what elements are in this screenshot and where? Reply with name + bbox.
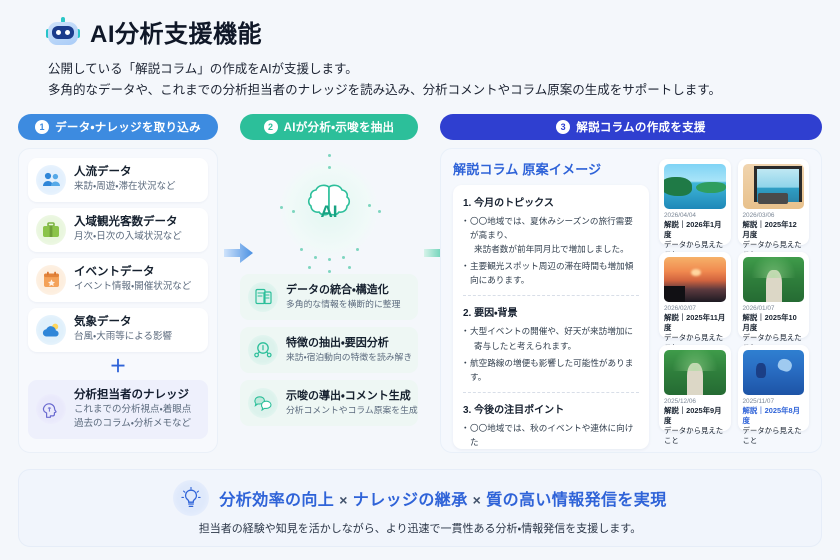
draft-body[interactable]: 1. 今月のトピックス 〇〇地域では、夏休みシーズンの旅行需要が高まり、 来訪者… <box>453 185 649 449</box>
gallery-card[interactable]: 2026/02/07 解説｜2025年11月度 データから見えたこと <box>659 252 731 338</box>
draft-section-heading: 3. 今後の注目ポイント <box>463 401 639 416</box>
ai-card-structure[interactable]: データの統合・構造化 多角的な情報を横断的に整理 <box>240 274 418 320</box>
svg-text:AI: AI <box>321 202 338 221</box>
bullet-line-2: 寄与したと考えられます。 <box>470 339 639 353</box>
sea-island-photo <box>664 164 726 209</box>
ai-card-title: 特徴の抽出・要因分析 <box>286 336 410 351</box>
knowledge-card[interactable]: 分析担当者のナレッジ これまでの分析視点・着眼点 過去のコラム・分析メモなど <box>28 380 208 439</box>
plus-sign: ＋ <box>28 358 208 375</box>
step-3-number: 3 <box>556 120 570 134</box>
ai-card-suggestion[interactable]: 示唆の導出・コメント生成 分析コメントやコラム原案を生成 <box>240 380 418 426</box>
outcome-headline-row: 分析効率の向上×ナレッジの継承×質の高い情報発信を実現 <box>173 480 666 516</box>
gallery-date: 2026/02/07 <box>664 305 726 313</box>
gallery-title: 解説｜2025年12月度 <box>743 220 805 240</box>
gallery-title: 解説｜2025年11月度 <box>664 313 726 333</box>
outcome-x-1: × <box>339 492 348 508</box>
ai-card-sub: 多角的な情報を横断的に整理 <box>286 298 400 311</box>
data-card-sub: 月次・日次の入域状況など <box>74 230 182 244</box>
data-card-weather[interactable]: 気象データ 台風・大雨等による影響 <box>28 308 208 352</box>
data-card-event[interactable]: イベントデータ イベント情報・開催状況など <box>28 258 208 302</box>
step-1-column: 1 データ・ナレッジを取り込み 人流データ 来訪・周遊・滞在状況など <box>18 114 218 459</box>
data-card-title: 気象データ <box>74 315 172 331</box>
gallery-card[interactable]: 2026/01/07 解説｜2025年10月度 データから見えたこと <box>738 252 810 338</box>
column-gallery: 2026/04/04 解説｜2026年1月度 データから見えたこと 2026/0… <box>659 159 809 442</box>
page-lead: 公開している「解説コラム」の作成をAIが支援します。 多角的なデータや、これまで… <box>48 59 822 102</box>
calendar-icon <box>36 265 66 295</box>
draft-bullet: 〇〇地域では、秋のイベントや連休に向けた 動向に注目が必要です。 <box>463 421 639 448</box>
data-card-title: 人流データ <box>74 165 175 181</box>
draft-bullet: 〇〇地域では、夏休みシーズンの旅行需要が高まり、 来訪者数が前年同月比で増加しま… <box>463 214 639 257</box>
step-3-label: 解説コラムの作成を支援 <box>576 119 705 135</box>
gallery-title: 解説｜2026年1月度 <box>664 220 726 240</box>
draft-bullet: 航空路線の増便も影響した可能性があります。 <box>463 356 639 384</box>
step-1-panel: 人流データ 来訪・周遊・滞在状況など 入域観光客数データ 月次・日次の入域状況な… <box>18 148 218 453</box>
gallery-subtitle: データから見えたこと <box>664 426 726 446</box>
lightbulb-icon <box>173 480 209 516</box>
draft-divider <box>463 392 639 393</box>
step-3-column: 3 解説コラムの作成を支援 解説コラム 原案イメージ 1. 今月のトピックス 〇… <box>440 114 822 459</box>
page-header: AI分析支援機能 <box>46 14 822 49</box>
step-1-label: データ・ナレッジを取り込み <box>55 119 201 135</box>
page-title: AI分析支援機能 <box>90 14 262 49</box>
lead-line-1: 公開している「解説コラム」の作成をAIが支援します。 <box>48 59 822 80</box>
green-road-photo <box>743 257 805 302</box>
chat-icon <box>248 388 278 418</box>
outcome-part-2: ナレッジの継承 <box>353 492 468 509</box>
data-card-tourists[interactable]: 入域観光客数データ 月次・日次の入域状況など <box>28 208 208 252</box>
data-card-sub: 台風・大雨等による影響 <box>74 330 172 344</box>
bullet-line-1: 航空路線の増便も影響した可能性があります。 <box>470 358 633 382</box>
ai-card-title: データの統合・構造化 <box>286 283 400 298</box>
draft-bullet: 主要観光スポット周辺の滞在時間も増加傾向にあります。 <box>463 259 639 287</box>
gallery-card[interactable]: 2025/11/07 解説｜2025年8月度 データから見えたこと <box>738 345 810 431</box>
data-card-sub: イベント情報・開催状況など <box>74 280 191 294</box>
ai-card-sub: 分析コメントやコラム原案を生成 <box>286 404 410 417</box>
step-2-number: 2 <box>264 120 278 134</box>
outcome-part-3: 質の高い情報発信を実現 <box>486 492 666 509</box>
draft-section-heading: 1. 今月のトピックス <box>463 194 639 209</box>
gallery-date: 2026/01/07 <box>743 305 805 313</box>
gallery-card[interactable]: 2026/03/06 解説｜2025年12月度 データから見えたこと <box>738 159 810 245</box>
robot-icon <box>46 17 80 47</box>
sunset-sea-photo <box>664 257 726 302</box>
data-card-title: イベントデータ <box>74 265 191 281</box>
outcome-footer: 分析効率の向上×ナレッジの継承×質の高い情報発信を実現 担当者の経験や知見を活か… <box>18 469 822 547</box>
gallery-date: 2025/12/06 <box>664 398 726 406</box>
ai-card-features[interactable]: 特徴の抽出・要因分析 来訪・宿泊動向の特徴を読み解き <box>240 327 418 373</box>
gallery-title: 解説｜2025年10月度 <box>743 313 805 333</box>
magnifier-icon <box>248 335 278 365</box>
knowledge-title: 分析担当者のナレッジ <box>74 388 191 404</box>
flow-band: 1 データ・ナレッジを取り込み 人流データ 来訪・周遊・滞在状況など <box>18 114 822 459</box>
structure-icon <box>248 282 278 312</box>
data-card-sub: 来訪・周遊・滞在状況など <box>74 180 175 194</box>
gallery-title[interactable]: 解説｜2025年8月度 <box>743 406 805 426</box>
gallery-subtitle: データから見えたこと <box>743 426 805 446</box>
draft-section-heading: 2. 要因・背景 <box>463 304 639 319</box>
knowledge-sub-2: 過去のコラム・分析メモなど <box>74 417 191 431</box>
bullet-line-1: 主要観光スポット周辺の滞在時間も増加傾向にあります。 <box>470 261 633 285</box>
draft-divider <box>463 295 639 296</box>
swimming-photo <box>743 350 805 395</box>
outcome-x-2: × <box>473 492 482 508</box>
outcome-part-1: 分析効率の向上 <box>219 492 334 509</box>
outcome-headline: 分析効率の向上×ナレッジの継承×質の高い情報発信を実現 <box>219 486 666 510</box>
step-2-label: AIが分析・示唆を抽出 <box>284 119 395 135</box>
step-1-number: 1 <box>35 120 49 134</box>
gallery-card[interactable]: 2026/04/04 解説｜2026年1月度 データから見えたこと <box>659 159 731 245</box>
ai-card-title: 示唆の導出・コメント生成 <box>286 389 410 404</box>
ai-brain-visual: AI <box>240 144 418 274</box>
ai-card-sub: 来訪・宿泊動向の特徴を読み解き <box>286 351 410 364</box>
bullet-line-2: 来訪者数が前年同月比で増加しました。 <box>470 242 639 256</box>
suitcase-icon <box>36 215 66 245</box>
draft-bullet: 大型イベントの開催や、好天が来訪増加に 寄与したと考えられます。 <box>463 324 639 352</box>
data-card-title: 入域観光客数データ <box>74 215 182 231</box>
head-brain-icon <box>36 394 66 424</box>
brain-icon: AI <box>298 181 360 237</box>
bullet-line-1: 〇〇地域では、夏休みシーズンの旅行需要が高まり、 <box>470 216 633 240</box>
outcome-subtext: 担当者の経験や知見を活かしながら、より迅速で一貫性ある分析・情報発信を支援します… <box>199 520 641 536</box>
column-draft: 解説コラム 原案イメージ 1. 今月のトピックス 〇〇地域では、夏休みシーズンの… <box>453 159 649 442</box>
gallery-card[interactable]: 2025/12/06 解説｜2025年9月度 データから見えたこと <box>659 345 731 431</box>
step-3-pill[interactable]: 3 解説コラムの作成を支援 <box>440 114 822 140</box>
step-2-pill[interactable]: 2 AIが分析・示唆を抽出 <box>240 114 418 140</box>
step-2-column: 2 AIが分析・示唆を抽出 AI <box>240 114 418 459</box>
bullet-line-1: 大型イベントの開催や、好天が来訪増加に <box>470 326 633 336</box>
lead-line-2: 多角的なデータや、これまでの分析担当者のナレッジを読み込み、分析コメントやコラム… <box>48 80 822 101</box>
draft-title: 解説コラム 原案イメージ <box>453 159 649 178</box>
step-1-pill[interactable]: 1 データ・ナレッジを取り込み <box>18 114 218 140</box>
knowledge-sub-1: これまでの分析視点・着眼点 <box>74 403 191 417</box>
data-card-people[interactable]: 人流データ 来訪・周遊・滞在状況など <box>28 158 208 202</box>
people-icon <box>36 165 66 195</box>
step-3-panel: 解説コラム 原案イメージ 1. 今月のトピックス 〇〇地域では、夏休みシーズンの… <box>440 148 822 453</box>
weather-icon <box>36 315 66 345</box>
gallery-date: 2026/03/06 <box>743 212 805 220</box>
ai-analysis-support-page: AI分析支援機能 公開している「解説コラム」の作成をAIが支援します。 多角的な… <box>0 0 840 560</box>
gallery-title: 解説｜2025年9月度 <box>664 406 726 426</box>
gallery-date: 2026/04/04 <box>664 212 726 220</box>
gallery-date: 2025/11/07 <box>743 398 805 406</box>
hotel-terrace-photo <box>743 164 805 209</box>
bullet-line-1: 〇〇地域では、秋のイベントや連休に向けた <box>470 423 633 447</box>
green-road-photo <box>664 350 726 395</box>
